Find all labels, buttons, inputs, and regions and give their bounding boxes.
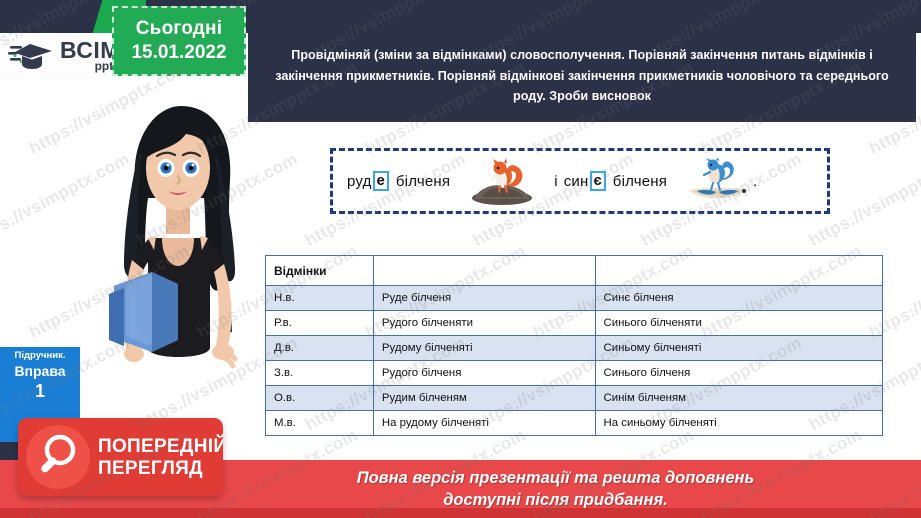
orange-form: Рудим білченям bbox=[373, 386, 595, 411]
table-row: М.в. На рудому білченяті На синьому білч… bbox=[266, 411, 883, 436]
instruction-header: Провідміняй (зміни за відмінками) словос… bbox=[248, 30, 916, 122]
blue-form: Синє білченя bbox=[595, 286, 882, 311]
declension-table: Відмінки Н.в. Руде білченя Синє білченя … bbox=[265, 255, 883, 436]
today-label: Сьогодні bbox=[136, 18, 222, 40]
phrase-word1-noun: білченя bbox=[396, 173, 450, 190]
table-header-row: Відмінки bbox=[266, 256, 883, 286]
table-row: Д.в. Рудому білченяті Синьому білченяті bbox=[266, 336, 883, 361]
case-label: Д.в. bbox=[266, 336, 374, 361]
phrase-word1-stem: руд bbox=[347, 173, 372, 190]
orange-form: Рудого білченяти bbox=[373, 311, 595, 336]
preview-badge[interactable]: ПОПЕРЕДНІЙ ПЕРЕГЛЯД bbox=[18, 418, 223, 496]
table-header-cases: Відмінки bbox=[266, 256, 374, 286]
table-row: Н.в. Руде білченя Синє білченя bbox=[266, 286, 883, 311]
case-label: Н.в. bbox=[266, 286, 374, 311]
student-girl-illustration bbox=[78, 98, 278, 448]
today-date: 15.01.2022 bbox=[131, 42, 226, 64]
exercise-number: 1 bbox=[0, 381, 80, 402]
table-body: Відмінки Н.в. Руде білченя Синє білченя … bbox=[266, 256, 883, 436]
table-header-col3 bbox=[595, 256, 882, 286]
table-row: О.в. Рудим білченям Синім білченям bbox=[266, 386, 883, 411]
exercise-source: Підручник. bbox=[0, 351, 80, 362]
phrase-word1-ending-highlight[interactable]: е bbox=[373, 171, 389, 191]
today-date-box: Сьогодні 15.01.2022 bbox=[112, 6, 246, 76]
graduation-cap-icon bbox=[8, 37, 56, 73]
banner-bottom-edge bbox=[0, 508, 921, 518]
preview-badge-line1: ПОПЕРЕДНІЙ bbox=[98, 437, 223, 456]
instruction-text: Провідміняй (зміни за відмінками) словос… bbox=[260, 45, 904, 106]
blue-form: На синьому білченяті bbox=[595, 411, 882, 436]
orange-form: На рудому білченяті bbox=[373, 411, 595, 436]
magnifier-icon bbox=[26, 425, 90, 489]
table-row: Р.в. Рудого білченяти Синього білченяти bbox=[266, 311, 883, 336]
presentation-slide: ВСІМ pptx Сьогодні 15.01.2022 Провідміня… bbox=[0, 0, 921, 518]
blue-form: Синьому білченяті bbox=[595, 336, 882, 361]
phrase-conjunction: і bbox=[554, 173, 558, 190]
blue-form: Синім білченям bbox=[595, 386, 882, 411]
orange-form: Руде білченя bbox=[373, 286, 595, 311]
blue-squirrel-icon bbox=[683, 158, 753, 204]
phrase-period: . bbox=[753, 173, 757, 190]
blue-form: Синього білченя bbox=[595, 361, 882, 386]
case-label: З.в. bbox=[266, 361, 374, 386]
phrase-dashed-box: руд е білченя bbox=[330, 148, 830, 214]
table-header-col2 bbox=[373, 256, 595, 286]
preview-badge-line2: ПЕРЕГЛЯД bbox=[98, 459, 223, 478]
table-row: З.в. Рудого білченя Синього білченя bbox=[266, 361, 883, 386]
blue-form: Синього білченяти bbox=[595, 311, 882, 336]
case-label: Р.в. bbox=[266, 311, 374, 336]
phrase-word2-noun: білченя bbox=[613, 173, 667, 190]
exercise-label: Вправа bbox=[0, 363, 80, 379]
case-label: М.в. bbox=[266, 411, 374, 436]
orange-squirrel-icon bbox=[466, 157, 538, 205]
orange-form: Рудого білченя bbox=[373, 361, 595, 386]
orange-form: Рудому білченяті bbox=[373, 336, 595, 361]
case-label: О.в. bbox=[266, 386, 374, 411]
site-logo: ВСІМ pptx bbox=[8, 30, 128, 80]
banner-line-1: Повна версія презентації та решта доповн… bbox=[357, 467, 755, 489]
phrase-word2-stem: син bbox=[564, 173, 589, 190]
phrase-word2-ending-highlight[interactable]: є bbox=[590, 171, 606, 191]
